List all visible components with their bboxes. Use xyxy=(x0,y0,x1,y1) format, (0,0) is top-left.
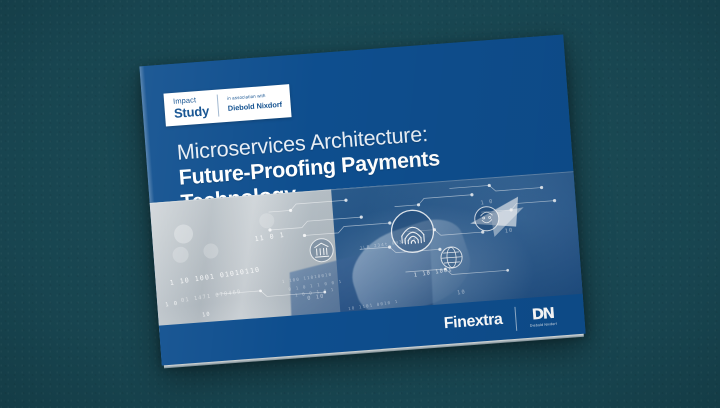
fingerprint-icon xyxy=(390,209,435,254)
bank-icon xyxy=(309,238,334,263)
binary-string: 10 xyxy=(504,227,513,234)
badge-study-label: Study xyxy=(173,104,209,120)
cover-surface: Impact Study in association with Diebold… xyxy=(139,34,585,365)
badge-right-group: in association with Diebold Nixdorf xyxy=(218,90,283,116)
finextra-logo: Finextra xyxy=(443,311,503,333)
report-cover[interactable]: Impact Study in association with Diebold… xyxy=(139,34,585,365)
binary-string: 10 xyxy=(457,289,466,296)
globe-icon xyxy=(440,246,463,269)
face-id-icon xyxy=(474,206,500,232)
badge-partner-label: Diebold Nixdorf xyxy=(228,100,283,112)
logo-divider xyxy=(515,307,518,331)
badge-left-group: Impact Study xyxy=(173,95,219,120)
diebold-nixdorf-logo: DN Diebold Nixdorf xyxy=(529,306,557,328)
dn-wordmark: Diebold Nixdorf xyxy=(530,323,557,328)
impact-study-badge: Impact Study in association with Diebold… xyxy=(163,84,291,126)
binary-string: 10 xyxy=(202,311,211,318)
dn-monogram: DN xyxy=(531,306,554,323)
